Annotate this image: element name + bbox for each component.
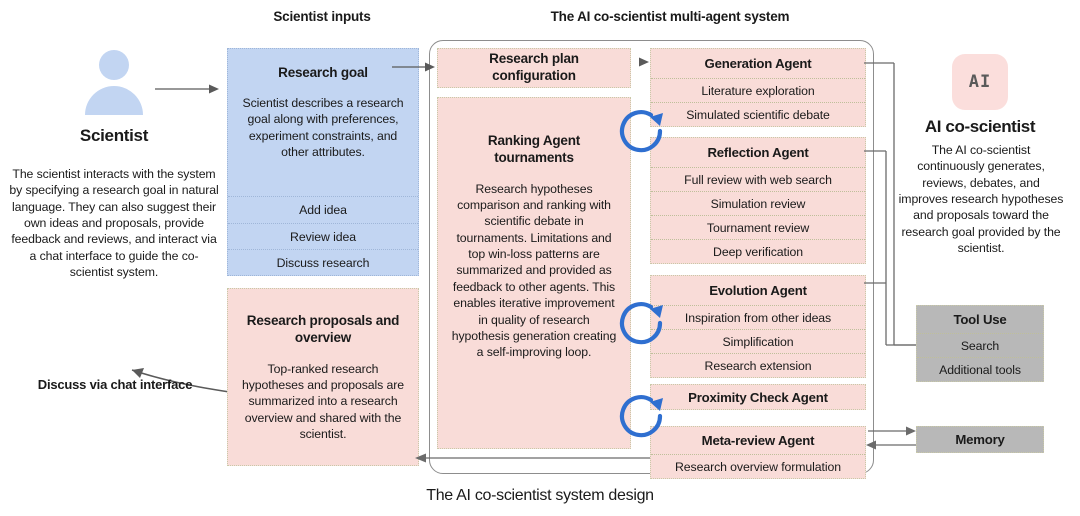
- ai-logo-tile: AI: [952, 54, 1008, 110]
- center-to-generation-arrow: [637, 56, 653, 68]
- loop-arrow-generation-icon: [617, 105, 673, 161]
- diagram-canvas: Scientist inputs The AI co-scientist mul…: [0, 0, 1080, 516]
- generation-agent-box[interactable]: Generation Agent Literature exploration …: [650, 48, 866, 127]
- generation-agent-item-simulated-scientific-debate[interactable]: Simulated scientific debate: [651, 102, 865, 126]
- chat-interface-label: Discuss via chat interface: [20, 377, 210, 394]
- scientist-description: The scientist interacts with the system …: [8, 166, 220, 280]
- caption-system-design: The AI co-scientist system design: [330, 487, 750, 505]
- reflection-agent-item-tournament-review[interactable]: Tournament review: [651, 215, 865, 239]
- ai-co-scientist-name: AI co-scientist: [900, 117, 1060, 137]
- reflection-agent-box[interactable]: Reflection Agent Full review with web se…: [650, 137, 866, 264]
- avatar-body-icon: [85, 86, 143, 115]
- reflection-agent-item-full-review-with-web-search[interactable]: Full review with web search: [651, 167, 865, 191]
- research-goal-action-review-idea[interactable]: Review idea: [228, 223, 418, 249]
- tool-use-item-additional-tools[interactable]: Additional tools: [917, 357, 1043, 381]
- title-multi-agent-system: The AI co-scientist multi-agent system: [460, 9, 880, 24]
- research-goal-action-discuss-research[interactable]: Discuss research: [228, 249, 418, 275]
- tool-use-title: Tool Use: [917, 306, 1043, 333]
- generation-agent-title: Generation Agent: [651, 49, 865, 78]
- reflection-agent-item-deep-verification[interactable]: Deep verification: [651, 239, 865, 263]
- reflection-agent-title: Reflection Agent: [651, 138, 865, 167]
- research-proposals-box[interactable]: Research proposals and overview Top-rank…: [227, 288, 419, 466]
- evolution-agent-box[interactable]: Evolution Agent Inspiration from other i…: [650, 275, 866, 378]
- memory-connector-arrows: [864, 424, 920, 456]
- research-goal-box[interactable]: Research goal Scientist describes a rese…: [227, 48, 419, 276]
- tool-use-item-search[interactable]: Search: [917, 333, 1043, 357]
- meta-review-agent-title: Meta-review Agent: [651, 427, 865, 454]
- research-proposals-title: Research proposals and overview: [239, 313, 407, 347]
- reflection-agent-item-simulation-review[interactable]: Simulation review: [651, 191, 865, 215]
- research-plan-title: Research plan configuration: [446, 51, 622, 85]
- evolution-agent-item-inspiration-from-other-ideas[interactable]: Inspiration from other ideas: [651, 305, 865, 329]
- system-to-proposals-arrow: [410, 451, 660, 465]
- scientist-avatar: [68, 50, 160, 115]
- avatar-head-icon: [99, 50, 129, 80]
- title-scientist-inputs: Scientist inputs: [222, 9, 422, 24]
- tool-use-box[interactable]: Tool Use Search Additional tools: [916, 305, 1044, 382]
- evolution-agent-title: Evolution Agent: [651, 276, 865, 305]
- evolution-agent-item-research-extension[interactable]: Research extension: [651, 353, 865, 377]
- research-proposals-description: Top-ranked research hypotheses and propo…: [239, 361, 407, 443]
- memory-title: Memory: [955, 432, 1004, 447]
- research-goal-description: Scientist describes a research goal alon…: [240, 95, 406, 160]
- ranking-agent-title: Ranking Agent tournaments: [448, 133, 620, 167]
- loop-arrow-evolution-icon: [617, 297, 673, 353]
- ranking-agent-description: Research hypotheses comparison and ranki…: [448, 181, 620, 361]
- meta-review-agent-item-research-overview-formulation[interactable]: Research overview formulation: [651, 454, 865, 478]
- ranking-agent-box[interactable]: Ranking Agent tournaments Research hypot…: [437, 97, 631, 449]
- meta-review-agent-box[interactable]: Meta-review Agent Research overview form…: [650, 426, 866, 479]
- loop-arrow-proximity-icon: [617, 390, 673, 446]
- research-goal-action-add-idea[interactable]: Add idea: [228, 196, 418, 223]
- ai-co-scientist-description: The AI co-scientist continuously generat…: [898, 142, 1064, 256]
- proximity-check-agent-title: Proximity Check Agent: [688, 390, 828, 405]
- scientist-name: Scientist: [48, 126, 180, 146]
- proximity-check-agent-box[interactable]: Proximity Check Agent: [650, 384, 866, 410]
- evolution-agent-item-simplification[interactable]: Simplification: [651, 329, 865, 353]
- research-goal-title: Research goal: [240, 65, 406, 82]
- ai-logo-text: AI: [952, 54, 1008, 110]
- scientist-to-goal-arrow: [155, 81, 225, 97]
- goal-to-plan-arrow: [392, 60, 438, 74]
- generation-agent-item-literature-exploration[interactable]: Literature exploration: [651, 78, 865, 102]
- research-plan-configuration-box[interactable]: Research plan configuration: [437, 48, 631, 88]
- memory-box[interactable]: Memory: [916, 426, 1044, 453]
